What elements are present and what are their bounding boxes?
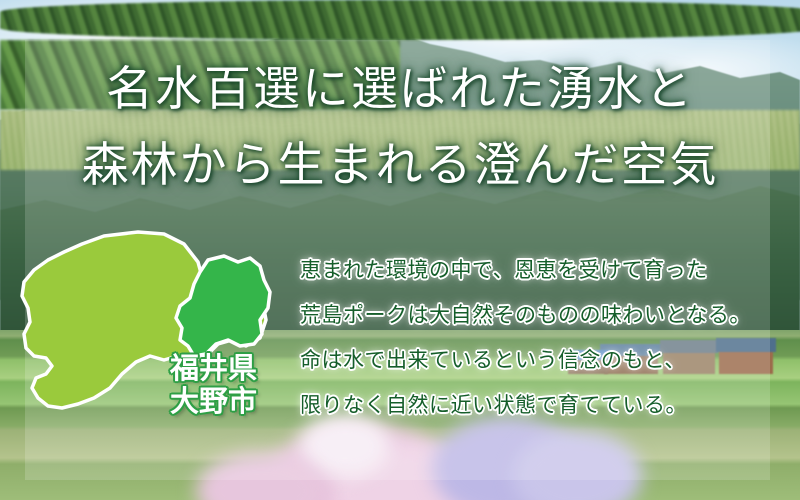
body-line-2: 荒島ポークは大自然そのものの味わいとなる。 bbox=[300, 293, 770, 338]
body-line-3: 命は水で出来ているという信念のもと、 bbox=[300, 338, 770, 383]
description-text: 恵まれた環境の中で、恩恵を受けて育った 荒島ポークは大自然そのものの味わいとなる… bbox=[300, 248, 770, 428]
map-region-label: 福井県 大野市 bbox=[170, 352, 300, 418]
promotional-banner: 名水百選に選ばれた湧水と 森林から生まれる澄んだ空気 福井県 大野市 恵まれた環… bbox=[0, 0, 800, 500]
map-label-city: 大野市 bbox=[170, 385, 300, 418]
body-line-1: 恵まれた環境の中で、恩恵を受けて育った bbox=[300, 248, 770, 293]
page-title: 名水百選に選ばれた湧水と 森林から生まれる澄んだ空気 bbox=[0, 52, 800, 204]
headline-line-2: 森林から生まれる澄んだ空気 bbox=[0, 128, 800, 204]
headline-line-1: 名水百選に選ばれた湧水と bbox=[0, 52, 800, 128]
map-label-prefecture: 福井県 bbox=[170, 352, 300, 385]
crop-hedge-row bbox=[0, 0, 800, 40]
body-line-4: 限りなく自然に近い状態で育てている。 bbox=[300, 383, 770, 428]
